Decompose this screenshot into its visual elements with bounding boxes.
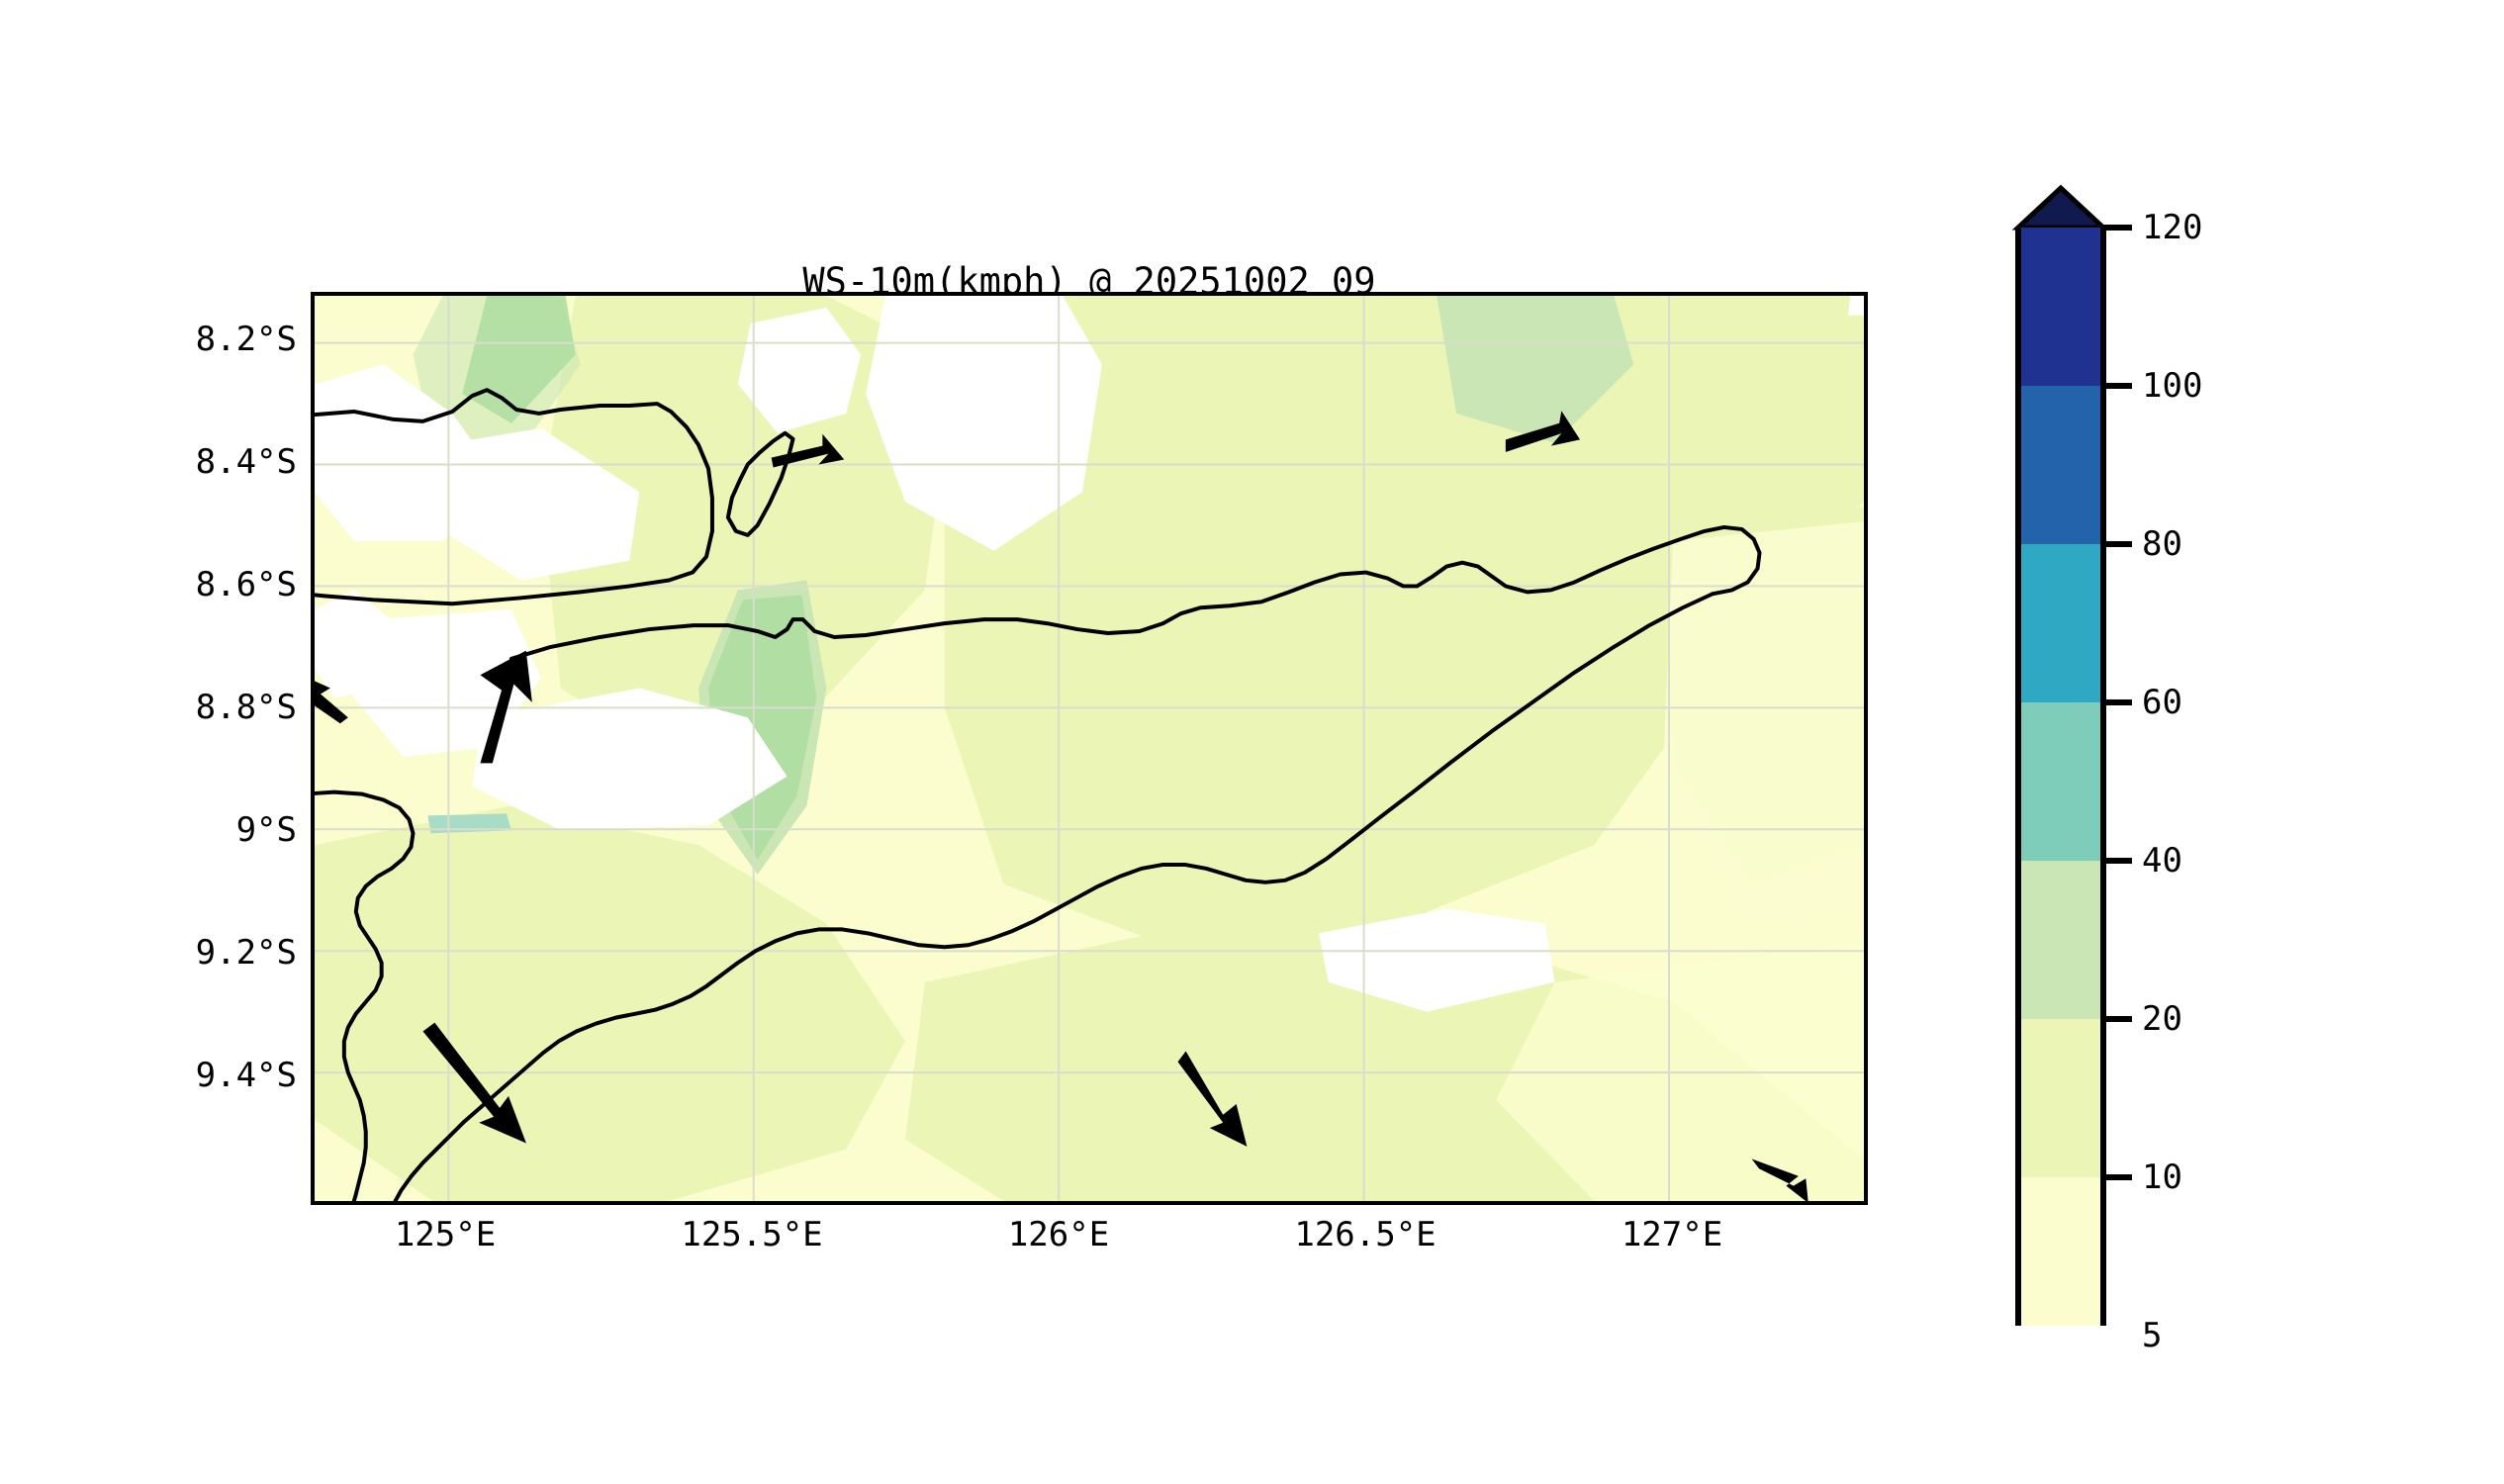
colorbar-band-5-10 bbox=[2018, 1177, 2103, 1326]
colorbar-band-40-60 bbox=[2018, 702, 2103, 861]
colorbar-band-10-20 bbox=[2018, 1019, 2103, 1177]
ytick-label-9-2s: 9.2°S bbox=[297, 933, 398, 973]
map-axes[interactable] bbox=[311, 292, 1868, 1205]
colorbar-band-20-40 bbox=[2018, 861, 2103, 1019]
colorbar-tick-label-100: 100 bbox=[2142, 366, 2202, 406]
ytick-label-8-4s: 8.4°S bbox=[297, 442, 398, 482]
xtick-label-127e: 127°E bbox=[1622, 1215, 1722, 1254]
ytick-text-9s: 9°S bbox=[236, 810, 297, 850]
colorbar-tick-label-10: 10 bbox=[2142, 1158, 2182, 1197]
colorbar-tick-label-80: 80 bbox=[2142, 524, 2182, 564]
colorbar[interactable]: 120 100 80 60 40 20 10 5 bbox=[1974, 178, 2310, 1326]
ytick-text-8-4s: 8.4°S bbox=[196, 442, 297, 482]
ytick-text-9-4s: 9.4°S bbox=[196, 1056, 297, 1095]
colorbar-tick-label-40: 40 bbox=[2142, 841, 2182, 881]
colorbar-tick-label-20: 20 bbox=[2142, 999, 2182, 1039]
xtick-label-125-5e: 125.5°E bbox=[681, 1215, 822, 1254]
ytick-text-8-2s: 8.2°S bbox=[196, 320, 297, 359]
colorbar-tick-label-5: 5 bbox=[2142, 1316, 2162, 1355]
ytick-label-9-4s: 9.4°S bbox=[297, 1056, 398, 1095]
ytick-text-8-8s: 8.8°S bbox=[196, 688, 297, 727]
colorbar-band-80-100 bbox=[2018, 386, 2103, 544]
map-canvas bbox=[315, 296, 1864, 1201]
xtick-label-126-5e: 126.5°E bbox=[1294, 1215, 1436, 1254]
ytick-text-9-2s: 9.2°S bbox=[196, 933, 297, 973]
ytick-label-8-8s: 8.8°S bbox=[297, 688, 398, 727]
figure-canvas: WS-10m(kmph) @ 20251002_09 Simulation Ti… bbox=[0, 0, 2504, 1484]
ytick-label-9s: 9°S bbox=[297, 810, 357, 850]
xtick-label-126e: 126°E bbox=[1008, 1215, 1109, 1254]
colorbar-band-100-120 bbox=[2018, 228, 2103, 386]
colorbar-extend-triangle-icon bbox=[2018, 188, 2103, 228]
ytick-label-8-2s: 8.2°S bbox=[297, 320, 398, 359]
ytick-text-8-6s: 8.6°S bbox=[196, 565, 297, 604]
xtick-label-125e: 125°E bbox=[395, 1215, 496, 1254]
colorbar-ticks bbox=[2103, 228, 2132, 1326]
colorbar-tick-label-120: 120 bbox=[2142, 208, 2202, 247]
ytick-label-8-6s: 8.6°S bbox=[297, 565, 398, 604]
colorbar-tick-label-60: 60 bbox=[2142, 683, 2182, 722]
colorbar-band-60-80 bbox=[2018, 544, 2103, 702]
colorbar-canvas bbox=[1974, 178, 2310, 1326]
